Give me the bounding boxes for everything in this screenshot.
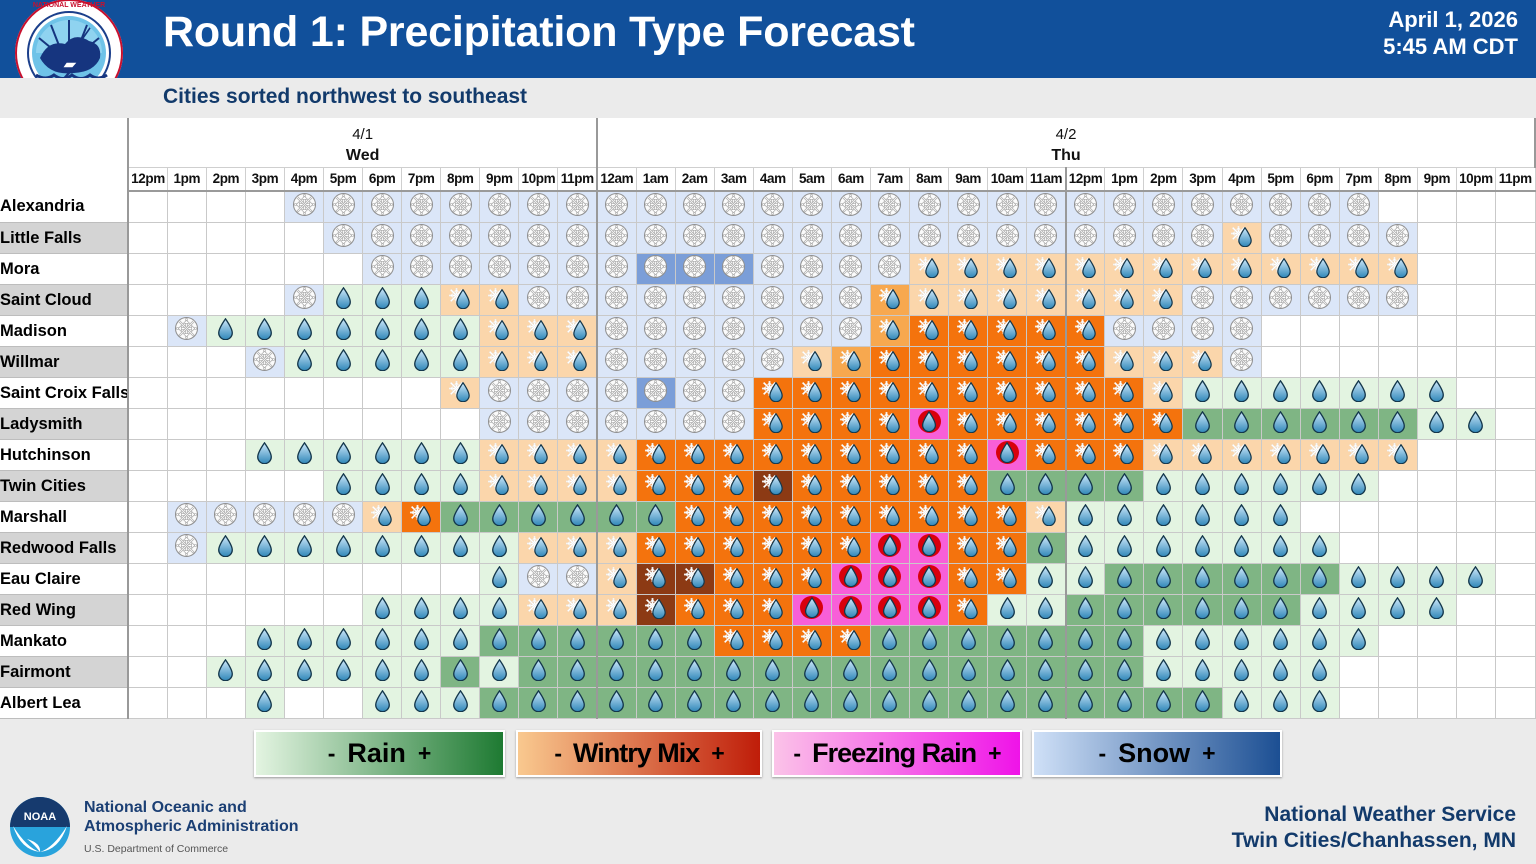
rain-drop-icon xyxy=(413,628,430,650)
forecast-cell xyxy=(1261,533,1300,564)
forecast-cell xyxy=(1456,316,1495,347)
rain-drop-icon xyxy=(1037,535,1054,557)
snow-icon xyxy=(565,223,590,248)
forecast-cell xyxy=(753,626,792,657)
rain-drop-icon xyxy=(256,628,273,650)
rain-drop-icon xyxy=(452,690,469,712)
header-timestamp: April 1, 2026 5:45 AM CDT xyxy=(1383,6,1518,60)
city-label-twin-cities[interactable]: Twin Cities xyxy=(0,471,128,502)
rain-drop-icon xyxy=(569,659,586,681)
rain-drop-icon xyxy=(1194,411,1211,433)
snow-icon xyxy=(1151,223,1176,248)
snow-icon xyxy=(448,223,473,248)
wintry-mix-icon xyxy=(799,409,825,434)
forecast-cell xyxy=(206,191,245,223)
wintry-mix-icon xyxy=(838,409,864,434)
legend-rain-plus: + xyxy=(418,740,431,767)
forecast-cell xyxy=(245,626,284,657)
forecast-cell xyxy=(363,564,402,595)
forecast-cell xyxy=(1144,191,1183,223)
hour-row-spacer xyxy=(0,167,128,191)
forecast-cell xyxy=(714,347,753,378)
forecast-cell xyxy=(1495,316,1535,347)
wintry-mix-icon xyxy=(838,471,864,496)
forecast-cell xyxy=(910,595,949,626)
forecast-cell xyxy=(1183,533,1222,564)
hour-label-30: 6pm xyxy=(1300,167,1339,191)
wintry-mix-icon xyxy=(721,626,747,651)
forecast-cell xyxy=(519,657,558,688)
forecast-cell xyxy=(324,688,363,719)
snow-icon xyxy=(682,316,707,341)
legend-item-freezing-rain[interactable]: - Freezing Rain + xyxy=(772,730,1022,777)
forecast-cell xyxy=(792,688,831,719)
forecast-cell xyxy=(441,533,480,564)
forecast-cell xyxy=(363,471,402,502)
city-label-eau-claire[interactable]: Eau Claire xyxy=(0,564,128,595)
forecast-cell xyxy=(284,657,323,688)
wintry-mix-icon xyxy=(1307,254,1333,279)
forecast-cell xyxy=(402,471,441,502)
snow-icon xyxy=(760,316,785,341)
wintry-mix-icon xyxy=(799,347,825,372)
rain-drop-icon xyxy=(1311,597,1328,619)
snow-icon xyxy=(409,254,434,279)
wintry-mix-icon xyxy=(955,316,981,341)
legend-item-rain[interactable]: - Rain + xyxy=(254,730,505,777)
forecast-cell xyxy=(949,595,988,626)
city-label-albert-lea[interactable]: Albert Lea xyxy=(0,688,128,719)
rain-drop-icon xyxy=(1311,566,1328,588)
forecast-cell xyxy=(1183,254,1222,285)
forecast-cell xyxy=(831,378,870,409)
forecast-cell xyxy=(1339,471,1378,502)
rain-drop-icon xyxy=(1467,411,1484,433)
forecast-cell xyxy=(792,657,831,688)
snow-icon xyxy=(721,316,746,341)
freezing-rain-icon xyxy=(917,564,942,589)
forecast-cell xyxy=(363,316,402,347)
forecast-cell xyxy=(206,223,245,254)
wintry-mix-icon xyxy=(1073,440,1099,465)
forecast-cell xyxy=(1027,347,1066,378)
forecast-cell xyxy=(402,223,441,254)
city-label-ladysmith[interactable]: Ladysmith xyxy=(0,409,128,440)
forecast-cell xyxy=(284,595,323,626)
rain-drop-icon xyxy=(1272,628,1289,650)
forecast-cell xyxy=(949,688,988,719)
forecast-cell xyxy=(792,223,831,254)
forecast-cell xyxy=(245,254,284,285)
table-row: Hutchinson xyxy=(0,440,1535,471)
rain-drop-icon xyxy=(335,287,352,309)
legend: - Rain + - Wintry Mix + - Freezing Rain … xyxy=(0,730,1536,784)
wintry-mix-icon xyxy=(1111,254,1137,279)
snow-icon xyxy=(487,254,512,279)
forecast-cell xyxy=(1339,533,1378,564)
page-header: NATIONAL WEATHER SERVICE Round 1: Precip… xyxy=(0,0,1536,78)
snow-icon xyxy=(526,564,551,589)
forecast-cell xyxy=(1378,440,1417,471)
wintry-mix-icon xyxy=(877,378,903,403)
forecast-cell xyxy=(1261,564,1300,595)
rain-drop-icon xyxy=(491,504,508,526)
snow-icon xyxy=(565,378,590,403)
forecast-cell xyxy=(245,595,284,626)
forecast-cell xyxy=(597,378,636,409)
forecast-cell xyxy=(128,471,167,502)
rain-drop-icon xyxy=(1037,566,1054,588)
forecast-cell xyxy=(206,626,245,657)
forecast-cell xyxy=(675,316,714,347)
wintry-mix-icon xyxy=(955,378,981,403)
forecast-cell xyxy=(636,533,675,564)
freezing-rain-icon xyxy=(917,409,942,434)
rain-drop-icon xyxy=(1155,504,1172,526)
forecast-cell xyxy=(636,626,675,657)
rain-drop-icon xyxy=(1311,380,1328,402)
forecast-cell xyxy=(363,688,402,719)
rain-drop-icon xyxy=(452,318,469,340)
forecast-cell xyxy=(1066,471,1105,502)
wintry-mix-icon xyxy=(604,471,630,496)
rain-drop-icon xyxy=(413,287,430,309)
forecast-cell xyxy=(1300,440,1339,471)
forecast-cell xyxy=(1144,378,1183,409)
hour-label-24: 12pm xyxy=(1066,167,1105,191)
forecast-cell xyxy=(910,471,949,502)
forecast-cell xyxy=(1027,688,1066,719)
subheader: Cities sorted northwest to southeast xyxy=(0,78,1536,118)
snow-icon xyxy=(682,378,707,403)
forecast-cell xyxy=(480,316,519,347)
city-label-mankato[interactable]: Mankato xyxy=(0,626,128,657)
forecast-cell xyxy=(363,502,402,533)
snow-icon xyxy=(292,192,317,217)
wintry-mix-icon xyxy=(1150,378,1176,403)
snow-icon xyxy=(838,285,863,310)
forecast-cell xyxy=(480,657,519,688)
city-label-redwood-falls[interactable]: Redwood Falls xyxy=(0,533,128,564)
rain-drop-icon xyxy=(842,659,859,681)
wintry-mix-icon xyxy=(1229,223,1255,248)
forecast-cell xyxy=(1105,657,1144,688)
forecast-cell xyxy=(597,471,636,502)
forecast-cell xyxy=(753,223,792,254)
wintry-mix-icon xyxy=(799,440,825,465)
forecast-cell xyxy=(480,502,519,533)
forecast-cell xyxy=(597,223,636,254)
forecast-cell xyxy=(206,564,245,595)
rain-drop-icon xyxy=(608,628,625,650)
forecast-cell xyxy=(870,409,909,440)
hour-label-33: 9pm xyxy=(1417,167,1456,191)
rain-drop-icon xyxy=(647,628,664,650)
forecast-cell xyxy=(1027,378,1066,409)
city-label-saint-croix-falls[interactable]: Saint Croix Falls xyxy=(0,378,128,409)
forecast-cell xyxy=(1105,191,1144,223)
snow-icon xyxy=(448,254,473,279)
forecast-cell xyxy=(636,564,675,595)
rain-drop-icon xyxy=(335,349,352,371)
rain-drop-icon xyxy=(452,535,469,557)
forecast-cell xyxy=(753,533,792,564)
forecast-cell xyxy=(597,440,636,471)
forecast-cell xyxy=(128,316,167,347)
forecast-cell xyxy=(831,285,870,316)
forecast-cell xyxy=(1027,254,1066,285)
wintry-mix-icon xyxy=(877,316,903,341)
forecast-cell xyxy=(245,688,284,719)
legend-item-wintry-mix[interactable]: - Wintry Mix + xyxy=(516,730,762,777)
forecast-cell xyxy=(675,285,714,316)
wintry-mix-icon xyxy=(838,502,864,527)
forecast-cell xyxy=(714,285,753,316)
rain-drop-icon xyxy=(1389,380,1406,402)
forecast-cell xyxy=(831,502,870,533)
day-date-wed: 4/1 xyxy=(129,121,596,142)
city-label-saint-cloud[interactable]: Saint Cloud xyxy=(0,285,128,316)
rain-drop-icon xyxy=(374,349,391,371)
wintry-mix-icon xyxy=(760,626,786,651)
rain-drop-icon xyxy=(1077,690,1094,712)
forecast-cell xyxy=(1417,254,1456,285)
forecast-cell xyxy=(519,502,558,533)
rain-drop-icon xyxy=(530,628,547,650)
day-name-wed: Wed xyxy=(129,142,596,164)
snow-icon xyxy=(1190,316,1215,341)
forecast-cell xyxy=(206,285,245,316)
forecast-cell xyxy=(1417,409,1456,440)
rain-drop-icon xyxy=(647,690,664,712)
wintry-mix-icon xyxy=(486,285,512,310)
forecast-cell xyxy=(910,626,949,657)
rain-drop-icon xyxy=(1233,473,1250,495)
forecast-cell xyxy=(402,316,441,347)
forecast-cell xyxy=(128,347,167,378)
forecast-cell xyxy=(1456,564,1495,595)
hour-label-32: 8pm xyxy=(1378,167,1417,191)
wintry-mix-icon xyxy=(955,409,981,434)
forecast-cell xyxy=(167,254,206,285)
forecast-cell xyxy=(636,316,675,347)
snow-icon xyxy=(1346,192,1371,217)
snow-icon xyxy=(1268,192,1293,217)
city-label-mora[interactable]: Mora xyxy=(0,254,128,285)
city-label-fairmont[interactable]: Fairmont xyxy=(0,657,128,688)
forecast-cell xyxy=(831,191,870,223)
wintry-mix-icon xyxy=(486,440,512,465)
forecast-cell xyxy=(402,657,441,688)
rain-drop-icon xyxy=(452,473,469,495)
rain-drop-icon xyxy=(1077,535,1094,557)
forecast-cell xyxy=(402,191,441,223)
forecast-cell xyxy=(167,502,206,533)
city-label-red-wing[interactable]: Red Wing xyxy=(0,595,128,626)
forecast-cell xyxy=(1300,533,1339,564)
forecast-cell xyxy=(714,564,753,595)
city-label-willmar[interactable]: Willmar xyxy=(0,347,128,378)
rain-drop-icon xyxy=(1350,473,1367,495)
forecast-cell xyxy=(597,409,636,440)
forecast-cell xyxy=(831,533,870,564)
wintry-mix-icon xyxy=(486,347,512,372)
forecast-cell xyxy=(1495,440,1535,471)
snow-icon xyxy=(526,223,551,248)
forecast-cell xyxy=(480,688,519,719)
wintry-mix-icon xyxy=(408,502,434,527)
forecast-cell xyxy=(1183,347,1222,378)
forecast-cell xyxy=(1144,254,1183,285)
wintry-mix-icon xyxy=(1033,347,1059,372)
forecast-cell xyxy=(1378,378,1417,409)
rain-drop-icon xyxy=(1116,690,1133,712)
forecast-cell xyxy=(206,657,245,688)
forecast-cell xyxy=(1105,223,1144,254)
hour-label-14: 2am xyxy=(675,167,714,191)
forecast-cell xyxy=(792,409,831,440)
rain-drop-icon xyxy=(1311,628,1328,650)
rain-drop-icon xyxy=(491,566,508,588)
rain-drop-icon xyxy=(374,597,391,619)
wintry-mix-icon xyxy=(916,471,942,496)
hour-label-34: 10pm xyxy=(1456,167,1495,191)
forecast-grid: 4/1 Wed 4/2 Thu 12pm1pm2pm3pm4pm5pm6pm7p… xyxy=(0,118,1536,719)
wintry-mix-icon xyxy=(721,502,747,527)
forecast-cell xyxy=(910,316,949,347)
wintry-mix-icon xyxy=(916,378,942,403)
forecast-cell xyxy=(753,409,792,440)
snow-icon xyxy=(526,285,551,310)
forecast-cell xyxy=(675,191,714,223)
forecast-cell xyxy=(480,626,519,657)
forecast-cell xyxy=(831,471,870,502)
rain-drop-icon xyxy=(1077,504,1094,526)
table-row: Saint Croix Falls xyxy=(0,378,1535,409)
table-row: Marshall xyxy=(0,502,1535,533)
snow-icon xyxy=(526,192,551,217)
rain-drop-icon xyxy=(999,597,1016,619)
forecast-cell xyxy=(675,533,714,564)
snow-icon xyxy=(1229,316,1254,341)
rain-drop-icon xyxy=(686,659,703,681)
city-label-alexandria[interactable]: Alexandria xyxy=(0,191,128,223)
forecast-cell xyxy=(245,440,284,471)
wintry-mix-icon xyxy=(955,254,981,279)
rain-drop-icon xyxy=(1467,566,1484,588)
snow-icon xyxy=(721,192,746,217)
forecast-cell xyxy=(1378,533,1417,564)
forecast-cell xyxy=(597,533,636,564)
forecast-cell xyxy=(1066,595,1105,626)
rain-drop-icon xyxy=(1272,380,1289,402)
forecast-cell xyxy=(675,254,714,285)
forecast-cell xyxy=(441,626,480,657)
rain-drop-icon xyxy=(1233,411,1250,433)
forecast-cell xyxy=(441,254,480,285)
snow-icon xyxy=(643,285,668,310)
forecast-cell xyxy=(1105,533,1144,564)
table-row: Red Wing xyxy=(0,595,1535,626)
forecast-cell xyxy=(363,285,402,316)
snow-icon xyxy=(1346,223,1371,248)
hour-label-22: 10am xyxy=(988,167,1027,191)
city-label-hutchinson[interactable]: Hutchinson xyxy=(0,440,128,471)
forecast-cell xyxy=(870,471,909,502)
rain-drop-icon xyxy=(491,659,508,681)
forecast-cell xyxy=(1183,502,1222,533)
table-row: Eau Claire xyxy=(0,564,1535,595)
table-row: Little Falls xyxy=(0,223,1535,254)
snow-icon xyxy=(1151,192,1176,217)
forecast-cell xyxy=(284,533,323,564)
forecast-cell xyxy=(1027,440,1066,471)
rain-drop-icon xyxy=(842,690,859,712)
wintry-mix-icon xyxy=(955,595,981,620)
rain-drop-icon xyxy=(1077,628,1094,650)
snow-icon xyxy=(1112,316,1137,341)
noaa-seal-icon: NOAA xyxy=(8,796,72,858)
forecast-cell xyxy=(1066,223,1105,254)
forecast-cell xyxy=(363,409,402,440)
forecast-cell xyxy=(324,595,363,626)
forecast-cell xyxy=(1300,223,1339,254)
city-label-marshall[interactable]: Marshall xyxy=(0,502,128,533)
forecast-cell xyxy=(245,316,284,347)
forecast-cell xyxy=(870,285,909,316)
wintry-mix-icon xyxy=(877,471,903,496)
forecast-cell xyxy=(1495,347,1535,378)
forecast-cell xyxy=(753,316,792,347)
wintry-mix-icon xyxy=(1268,254,1294,279)
snow-icon xyxy=(838,192,863,217)
noaa-line-3: U.S. Department of Commerce xyxy=(84,836,299,859)
forecast-cell xyxy=(1027,316,1066,347)
hour-label-2: 2pm xyxy=(206,167,245,191)
forecast-cell xyxy=(831,595,870,626)
city-label-little-falls[interactable]: Little Falls xyxy=(0,223,128,254)
forecast-cell xyxy=(1300,191,1339,223)
snow-icon xyxy=(565,192,590,217)
forecast-cell xyxy=(597,564,636,595)
forecast-cell xyxy=(1456,626,1495,657)
rain-drop-icon xyxy=(1428,380,1445,402)
city-label-madison[interactable]: Madison xyxy=(0,316,128,347)
forecast-cell xyxy=(441,347,480,378)
forecast-cell xyxy=(1378,471,1417,502)
wintry-mix-icon xyxy=(525,440,551,465)
hour-label-27: 3pm xyxy=(1183,167,1222,191)
forecast-cell xyxy=(480,533,519,564)
legend-item-snow[interactable]: - Snow + xyxy=(1032,730,1282,777)
forecast-cell xyxy=(1339,191,1378,223)
forecast-cell xyxy=(675,223,714,254)
snow-icon xyxy=(838,223,863,248)
wintry-mix-icon xyxy=(1073,254,1099,279)
forecast-cell xyxy=(636,191,675,223)
forecast-cell xyxy=(675,440,714,471)
wintry-mix-icon xyxy=(955,564,981,589)
rain-drop-icon xyxy=(530,690,547,712)
forecast-cell xyxy=(792,347,831,378)
snow-icon xyxy=(1190,223,1215,248)
rain-drop-icon xyxy=(960,659,977,681)
forecast-cell xyxy=(284,440,323,471)
forecast-cell xyxy=(519,440,558,471)
forecast-cell xyxy=(1066,316,1105,347)
forecast-cell xyxy=(714,254,753,285)
forecast-cell xyxy=(714,409,753,440)
